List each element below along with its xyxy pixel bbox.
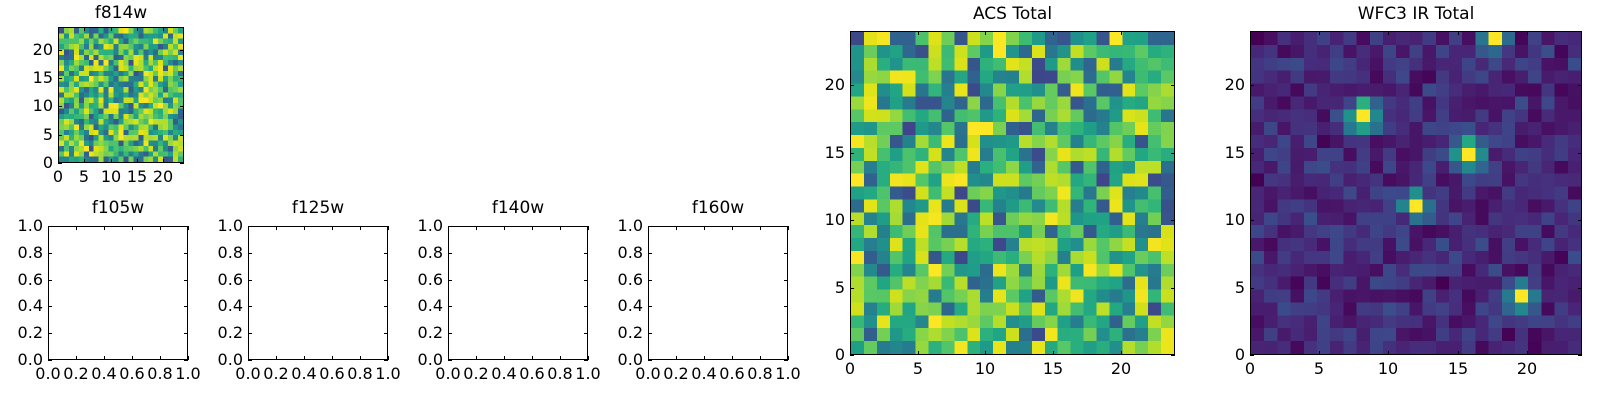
y-tick-label: 0.6 [418,272,443,288]
panel-title-f125w: f125w [248,200,388,217]
x-tick-label: 0.6 [719,366,744,382]
x-tick-label: 20 [1517,361,1537,377]
x-tick-label: 0.6 [519,366,544,382]
x-tick-mark [588,356,589,360]
x-tick-label: 0.4 [91,366,116,382]
x-tick-label: 1.0 [575,366,600,382]
x-tick-label: 15 [1043,361,1063,377]
x-tick-label: 0.4 [691,366,716,382]
x-tick-label: 0.2 [63,366,88,382]
x-tick-label: 10 [975,361,995,377]
y-tick-label: 5 [1235,280,1245,296]
y-tick-label: 0.8 [18,245,43,261]
x-tick-label: 0.4 [491,366,516,382]
y-tick-label: 20 [33,42,53,58]
x-tick-label: 0.4 [291,366,316,382]
y-tick-label: 10 [825,212,845,228]
y-tick-label: 0 [43,155,53,171]
y-tick-mark [184,360,188,361]
x-tick-label: 5 [79,169,89,185]
x-tick-label: 0.8 [147,366,172,382]
y-tick-mark [48,360,52,361]
x-tick-label: 1.0 [375,366,400,382]
y-tick-mark [850,355,854,356]
x-tick-label: 0.0 [635,366,660,382]
heatmap-image-f814w [59,28,183,162]
y-tick-label: 10 [1225,212,1245,228]
x-tick-label: 0.8 [347,366,372,382]
heatmap-image-wfc3-ir-total [1251,32,1581,354]
panel-title-wfc3-ir-total: WFC3 IR Total [1250,6,1582,23]
y-tick-mark [1578,355,1582,356]
y-tick-label: 0.2 [218,325,243,341]
plot-area-f814w [58,27,184,163]
y-tick-label: 0.6 [618,272,643,288]
x-tick-mark [388,356,389,360]
y-tick-mark [58,163,62,164]
plot-area-f160w [648,226,788,360]
y-tick-label: 20 [1225,77,1245,93]
y-tick-mark [448,360,452,361]
y-tick-label: 0.6 [218,272,243,288]
x-tick-label: 0 [845,361,855,377]
panel-wfc3-ir-total: WFC3 IR Total0510152005101520 [0,0,1600,400]
x-tick-label: 1.0 [175,366,200,382]
panel-title-f160w: f160w [648,200,788,217]
y-tick-label: 5 [43,127,53,143]
x-tick-label: 0.6 [119,366,144,382]
y-tick-label: 0.4 [218,298,243,314]
plot-area-wfc3-ir-total [1250,31,1582,355]
y-tick-label: 15 [1225,145,1245,161]
x-tick-label: 0.0 [35,366,60,382]
x-tick-label: 0.8 [747,366,772,382]
y-tick-label: 0.8 [418,245,443,261]
x-tick-label: 20 [153,169,173,185]
y-tick-label: 0 [1235,347,1245,363]
x-tick-mark [188,356,189,360]
plot-area-acs-total [850,31,1175,355]
y-tick-mark [248,360,252,361]
x-tick-label: 1.0 [775,366,800,382]
y-tick-label: 20 [825,77,845,93]
panel-title-f105w: f105w [48,200,188,217]
x-tick-label: 5 [913,361,923,377]
y-tick-mark [1171,355,1175,356]
panel-title-f814w: f814w [58,5,184,22]
x-tick-mark [588,226,589,230]
y-tick-label: 1.0 [18,218,43,234]
y-tick-label: 0.2 [418,325,443,341]
panel-title-acs-total: ACS Total [850,6,1175,23]
y-tick-label: 0.2 [18,325,43,341]
y-tick-label: 0.8 [218,245,243,261]
y-tick-label: 0.4 [18,298,43,314]
y-tick-label: 1.0 [418,218,443,234]
x-tick-label: 0.0 [235,366,260,382]
x-tick-mark [788,356,789,360]
x-tick-mark [788,226,789,230]
x-tick-label: 0.0 [435,366,460,382]
x-tick-mark [188,226,189,230]
panel-title-f140w: f140w [448,200,588,217]
x-tick-label: 10 [101,169,121,185]
x-tick-label: 0.2 [663,366,688,382]
plot-area-f140w [448,226,588,360]
y-tick-label: 0.4 [618,298,643,314]
y-tick-mark [784,360,788,361]
y-tick-label: 15 [825,145,845,161]
x-tick-label: 5 [1314,361,1324,377]
x-tick-label: 10 [1378,361,1398,377]
x-tick-label: 0.6 [319,366,344,382]
y-tick-label: 0.2 [618,325,643,341]
x-tick-label: 0.2 [263,366,288,382]
x-tick-mark [388,226,389,230]
y-tick-label: 15 [33,70,53,86]
y-tick-label: 1.0 [218,218,243,234]
y-tick-label: 0.6 [18,272,43,288]
y-tick-label: 5 [835,280,845,296]
y-tick-label: 0.0 [418,352,443,368]
y-tick-mark [180,163,184,164]
plot-area-f125w [248,226,388,360]
y-tick-label: 0 [835,347,845,363]
x-tick-label: 0 [53,169,63,185]
x-tick-label: 20 [1111,361,1131,377]
x-tick-label: 15 [127,169,147,185]
y-tick-label: 0.0 [18,352,43,368]
x-tick-label: 0 [1245,361,1255,377]
y-tick-mark [648,360,652,361]
y-tick-label: 10 [33,98,53,114]
x-tick-label: 0.2 [463,366,488,382]
y-tick-label: 0.8 [618,245,643,261]
y-tick-label: 0.0 [618,352,643,368]
x-tick-label: 0.8 [547,366,572,382]
y-tick-label: 0.0 [218,352,243,368]
y-tick-label: 1.0 [618,218,643,234]
heatmap-image-acs-total [851,32,1174,354]
plot-area-f105w [48,226,188,360]
y-tick-label: 0.4 [418,298,443,314]
y-tick-mark [1250,355,1254,356]
x-tick-label: 15 [1448,361,1468,377]
y-tick-mark [384,360,388,361]
y-tick-mark [584,360,588,361]
